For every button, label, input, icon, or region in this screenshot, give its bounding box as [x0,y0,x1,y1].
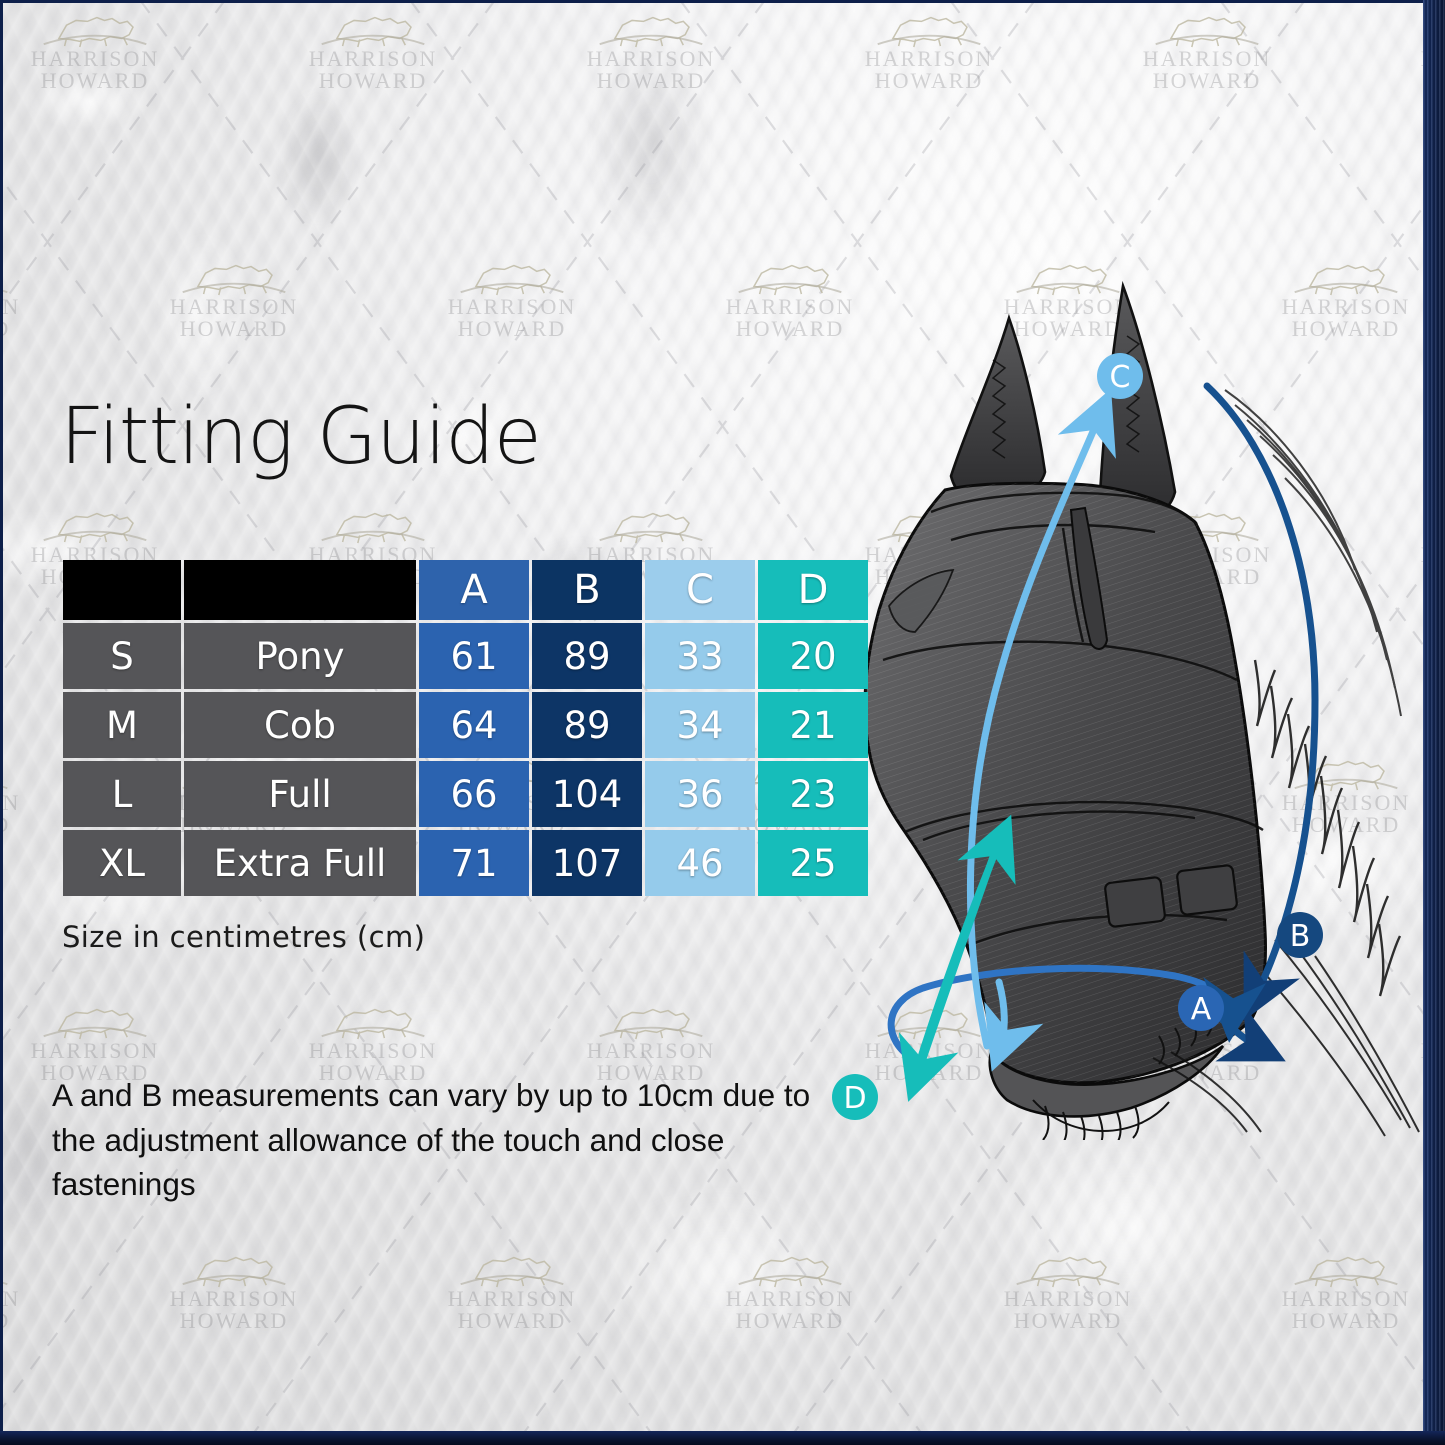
page-title: Fitting Guide [60,398,541,476]
watermark-line-1: HARRISON [0,1040,210,1062]
watermark-line-2: HOWARD [397,1310,627,1332]
neck-long-strokes [1255,940,1419,1136]
watermark-line-1: HARRISON [0,1288,71,1310]
horse-logo-icon [0,10,210,48]
row-value-b: 89 [532,623,642,689]
header-blank-name [184,560,416,620]
frame-left-border [0,0,3,1445]
row-value-d: 25 [758,830,868,896]
watermark-line-1: HARRISON [0,296,71,318]
row-value-a: 61 [419,623,529,689]
row-name: Pony [184,623,416,689]
horse-logo-icon [675,1250,905,1288]
row-value-d: 20 [758,623,868,689]
horse-logo-icon [536,506,766,544]
header-col-a: A [419,560,529,620]
row-value-b: 107 [532,830,642,896]
watermark-line-2: HOWARD [814,70,1044,92]
row-value-a: 66 [419,761,529,827]
left-ear [951,318,1045,506]
table-row: L Full 66 104 36 23 [63,761,868,827]
header-blank-code [63,560,181,620]
header-col-c: C [645,560,755,620]
watermark-line-2: HOWARD [0,1310,71,1332]
row-value-c: 33 [645,623,755,689]
watermark-line-1: HARRISON [119,1288,349,1310]
horse-head-drawing [865,286,1419,1140]
horse-logo-icon [0,1250,71,1288]
watermark-line-2: HOWARD [397,318,627,340]
frame-bottom-border [0,1431,1445,1445]
marker-b-label: B [1290,919,1311,954]
watermark-line-2: HOWARD [1231,1310,1445,1332]
watermark-line-2: HOWARD [119,1310,349,1332]
frame-right-border [1423,0,1445,1445]
row-value-c: 36 [645,761,755,827]
watermark-line-1: HARRISON [258,48,488,70]
watermark-line-2: HOWARD [1092,70,1322,92]
row-code: M [63,692,181,758]
horse-logo-icon [119,1250,349,1288]
horse-logo-icon [0,1002,210,1040]
horse-logo-icon [119,258,349,296]
watermark-line-1: HARRISON [814,48,1044,70]
row-value-d: 21 [758,692,868,758]
watermark-line-2: HOWARD [258,70,488,92]
horse-logo-icon [0,506,210,544]
marker-a-label: A [1191,992,1212,1027]
watermark-line-2: HOWARD [536,70,766,92]
watermark-line-1: HARRISON [397,296,627,318]
row-value-c: 46 [645,830,755,896]
header-col-b: B [532,560,642,620]
horse-logo-icon [258,506,488,544]
row-code: S [63,623,181,689]
watermark-line-2: HOWARD [119,318,349,340]
row-code: L [63,761,181,827]
row-value-a: 64 [419,692,529,758]
frame-top-border [0,0,1445,3]
marker-c-label: C [1110,360,1131,395]
table-row: XL Extra Full 71 107 46 25 [63,830,868,896]
row-code: XL [63,830,181,896]
horse-logo-icon [1092,10,1322,48]
row-value-b: 89 [532,692,642,758]
watermark-line-2: HOWARD [953,1310,1183,1332]
marker-c: C [1097,353,1143,399]
table-header-row: A B C D [63,560,868,620]
row-value-c: 34 [645,692,755,758]
watermark-line-1: HARRISON [397,1288,627,1310]
watermark-line-2: HOWARD [675,1310,905,1332]
watermark-line-1: HARRISON [536,1040,766,1062]
watermark-line-2: HOWARD [0,70,210,92]
horse-logo-icon [397,1250,627,1288]
row-value-d: 23 [758,761,868,827]
horse-logo-icon [258,1002,488,1040]
fitting-guide-page: HARRISONHOWARD HARRISONHOWARD HARRISONHO… [0,0,1445,1445]
horse-logo-icon [0,258,71,296]
row-name: Cob [184,692,416,758]
row-value-a: 71 [419,830,529,896]
horse-logo-icon [258,10,488,48]
horse-logo-icon [397,258,627,296]
marker-b: B [1277,912,1323,958]
horse-logo-icon [1231,1250,1445,1288]
measurement-note: A and B measurements can vary by up to 1… [52,1073,842,1207]
horse-logo-icon [814,10,1044,48]
watermark-line-1: HARRISON [953,1288,1183,1310]
row-value-b: 104 [532,761,642,827]
table-row: S Pony 61 89 33 20 [63,623,868,689]
watermark-line-2: HOWARD [0,318,71,340]
row-name: Extra Full [184,830,416,896]
horse-logo-icon [953,1250,1183,1288]
table-row: M Cob 64 89 34 21 [63,692,868,758]
header-col-d: D [758,560,868,620]
horse-logo-icon [536,10,766,48]
horse-logo-icon [536,1002,766,1040]
watermark-line-1: HARRISON [536,48,766,70]
marker-d-label: D [843,1081,866,1116]
watermark-line-1: HARRISON [1092,48,1322,70]
units-caption: Size in centimetres (cm) [62,920,425,954]
row-name: Full [184,761,416,827]
watermark-line-1: HARRISON [258,1040,488,1062]
watermark-line-1: HARRISON [675,1288,905,1310]
watermark-line-1: HARRISON [0,48,210,70]
watermark-line-1: HARRISON [119,296,349,318]
marker-a: A [1178,985,1224,1031]
watermark-line-1: HARRISON [1231,1288,1445,1310]
size-table: A B C D S Pony 61 89 33 20 M Cob 64 89 3… [60,557,871,899]
